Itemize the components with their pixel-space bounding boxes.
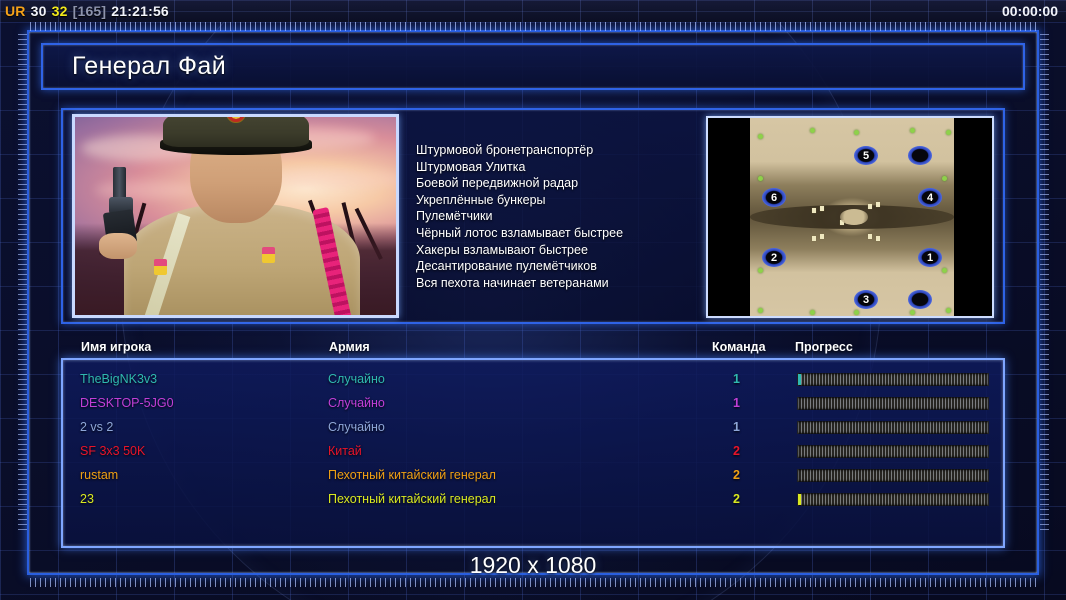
header-player-name: Имя игрока (81, 340, 151, 354)
minimap-resource-icon (758, 268, 763, 273)
minimap-resource-icon (758, 134, 763, 139)
minimap-resource-icon (942, 176, 947, 181)
player-team[interactable]: 1 (733, 420, 740, 434)
player-name: DESKTOP-5JG0 (80, 396, 174, 410)
minimap-prop-icon (840, 220, 844, 225)
player-progress-bar (797, 469, 989, 482)
ability-item: Десантирование пулемётчиков (416, 258, 696, 275)
player-table: TheBigNK3v3Случайно1DESKTOP-5JG0Случайно… (61, 358, 1005, 548)
player-team[interactable]: 1 (733, 396, 740, 410)
player-team[interactable]: 1 (733, 372, 740, 386)
medal-icon (262, 247, 275, 263)
ruler-left (18, 34, 27, 534)
ruler-right (1040, 34, 1049, 534)
general-hand (99, 233, 137, 259)
minimap-start-position[interactable]: 6 (762, 188, 786, 207)
minimap-terrain: 564213 (750, 118, 954, 316)
minimap-empty-start-position[interactable] (908, 290, 932, 309)
minimap-prop-icon (812, 208, 816, 213)
player-army[interactable]: Пехотный китайский генерал (328, 468, 496, 482)
app-root: UR 30 32 [165] 21:21:56 00:00:00 Генерал… (0, 0, 1066, 600)
player-team[interactable]: 2 (733, 492, 740, 506)
minimap-resource-icon (910, 128, 915, 133)
minimap-resource-icon (854, 310, 859, 315)
minimap-start-position[interactable]: 1 (918, 248, 942, 267)
minimap-resource-icon (810, 310, 815, 315)
minimap-resource-icon (758, 308, 763, 313)
cloud (275, 169, 399, 189)
minimap-resource-icon (854, 130, 859, 135)
player-army[interactable]: Случайно (328, 372, 385, 386)
minimap-prop-icon (820, 234, 824, 239)
status-value-1: 30 (26, 3, 47, 19)
progress-fill (798, 374, 801, 385)
player-progress-bar (797, 397, 989, 410)
table-row[interactable]: SF 3x3 50KКитай2 (63, 439, 1003, 463)
page-title: Генерал Фай (43, 52, 226, 81)
minimap-start-position[interactable]: 3 (854, 290, 878, 309)
general-abilities-list: Штурмовой бронетранспортёрШтурмовая Улит… (416, 142, 696, 291)
player-name: SF 3x3 50K (80, 444, 145, 458)
medal-icon (154, 259, 167, 275)
ability-item: Укреплённые бункеры (416, 192, 696, 209)
title-panel: Генерал Фай (41, 43, 1025, 90)
ruler-bottom (30, 578, 1036, 587)
minimap-resource-icon (810, 128, 815, 133)
player-progress-bar (797, 445, 989, 458)
status-timer: 00:00:00 (1002, 3, 1066, 19)
minimap-start-position[interactable]: 4 (918, 188, 942, 207)
minimap-prop-icon (868, 234, 872, 239)
ruler-top (30, 22, 1036, 31)
status-prefix: UR (0, 3, 26, 19)
ability-item: Штурмовой бронетранспортёр (416, 142, 696, 159)
table-row[interactable]: 23Пехотный китайский генерал2 (63, 487, 1003, 511)
player-army[interactable]: Пехотный китайский генерал (328, 492, 496, 506)
minimap-prop-icon (820, 206, 824, 211)
minimap-panel[interactable]: 564213 (706, 116, 994, 318)
minimap-prop-icon (812, 236, 816, 241)
player-team[interactable]: 2 (733, 444, 740, 458)
player-army[interactable]: Случайно (328, 396, 385, 410)
player-name: rustam (80, 468, 118, 482)
player-army[interactable]: Случайно (328, 420, 385, 434)
status-bar: UR 30 32 [165] 21:21:56 00:00:00 (0, 0, 1066, 22)
table-row[interactable]: TheBigNK3v3Случайно1 (63, 367, 1003, 391)
status-value-2: 32 (47, 3, 68, 19)
ability-item: Боевой передвижной радар (416, 175, 696, 192)
minimap-empty-start-position[interactable] (908, 146, 932, 165)
player-progress-bar (797, 421, 989, 434)
status-bracket: [165] (68, 3, 107, 19)
player-progress-bar (797, 373, 989, 386)
player-name: TheBigNK3v3 (80, 372, 157, 386)
player-name: 2 vs 2 (80, 420, 113, 434)
table-row[interactable]: rustamПехотный китайский генерал2 (63, 463, 1003, 487)
table-row[interactable]: DESKTOP-5JG0Случайно1 (63, 391, 1003, 415)
status-clock: 21:21:56 (106, 3, 169, 19)
player-team[interactable]: 2 (733, 468, 740, 482)
ability-item: Хакеры взламывают быстрее (416, 242, 696, 259)
minimap-resource-icon (758, 176, 763, 181)
progress-fill (798, 494, 801, 505)
minimap-prop-icon (850, 218, 854, 223)
header-progress: Прогресс (795, 340, 853, 354)
ability-item: Вся пехота начинает ветеранами (416, 275, 696, 292)
ability-item: Чёрный лотос взламывает быстрее (416, 225, 696, 242)
ability-item: Штурмовая Улитка (416, 159, 696, 176)
player-progress-bar (797, 493, 989, 506)
resolution-label: 1920 x 1080 (0, 552, 1066, 579)
general-portrait (72, 114, 399, 318)
minimap-resource-icon (942, 268, 947, 273)
minimap-prop-icon (876, 236, 880, 241)
table-row[interactable]: 2 vs 2Случайно1 (63, 415, 1003, 439)
ability-item: Пулемётчики (416, 208, 696, 225)
minimap-resource-icon (910, 310, 915, 315)
minimap-prop-icon (868, 204, 872, 209)
player-table-headers: Имя игрока Армия Команда Прогресс (61, 340, 1005, 358)
minimap-start-position[interactable]: 5 (854, 146, 878, 165)
player-name: 23 (80, 492, 94, 506)
minimap-start-position[interactable]: 2 (762, 248, 786, 267)
header-army: Армия (329, 340, 370, 354)
minimap-resource-icon (946, 308, 951, 313)
minimap-resource-icon (946, 130, 951, 135)
player-army[interactable]: Китай (328, 444, 362, 458)
minimap-prop-icon (876, 202, 880, 207)
header-team: Команда (712, 340, 766, 354)
